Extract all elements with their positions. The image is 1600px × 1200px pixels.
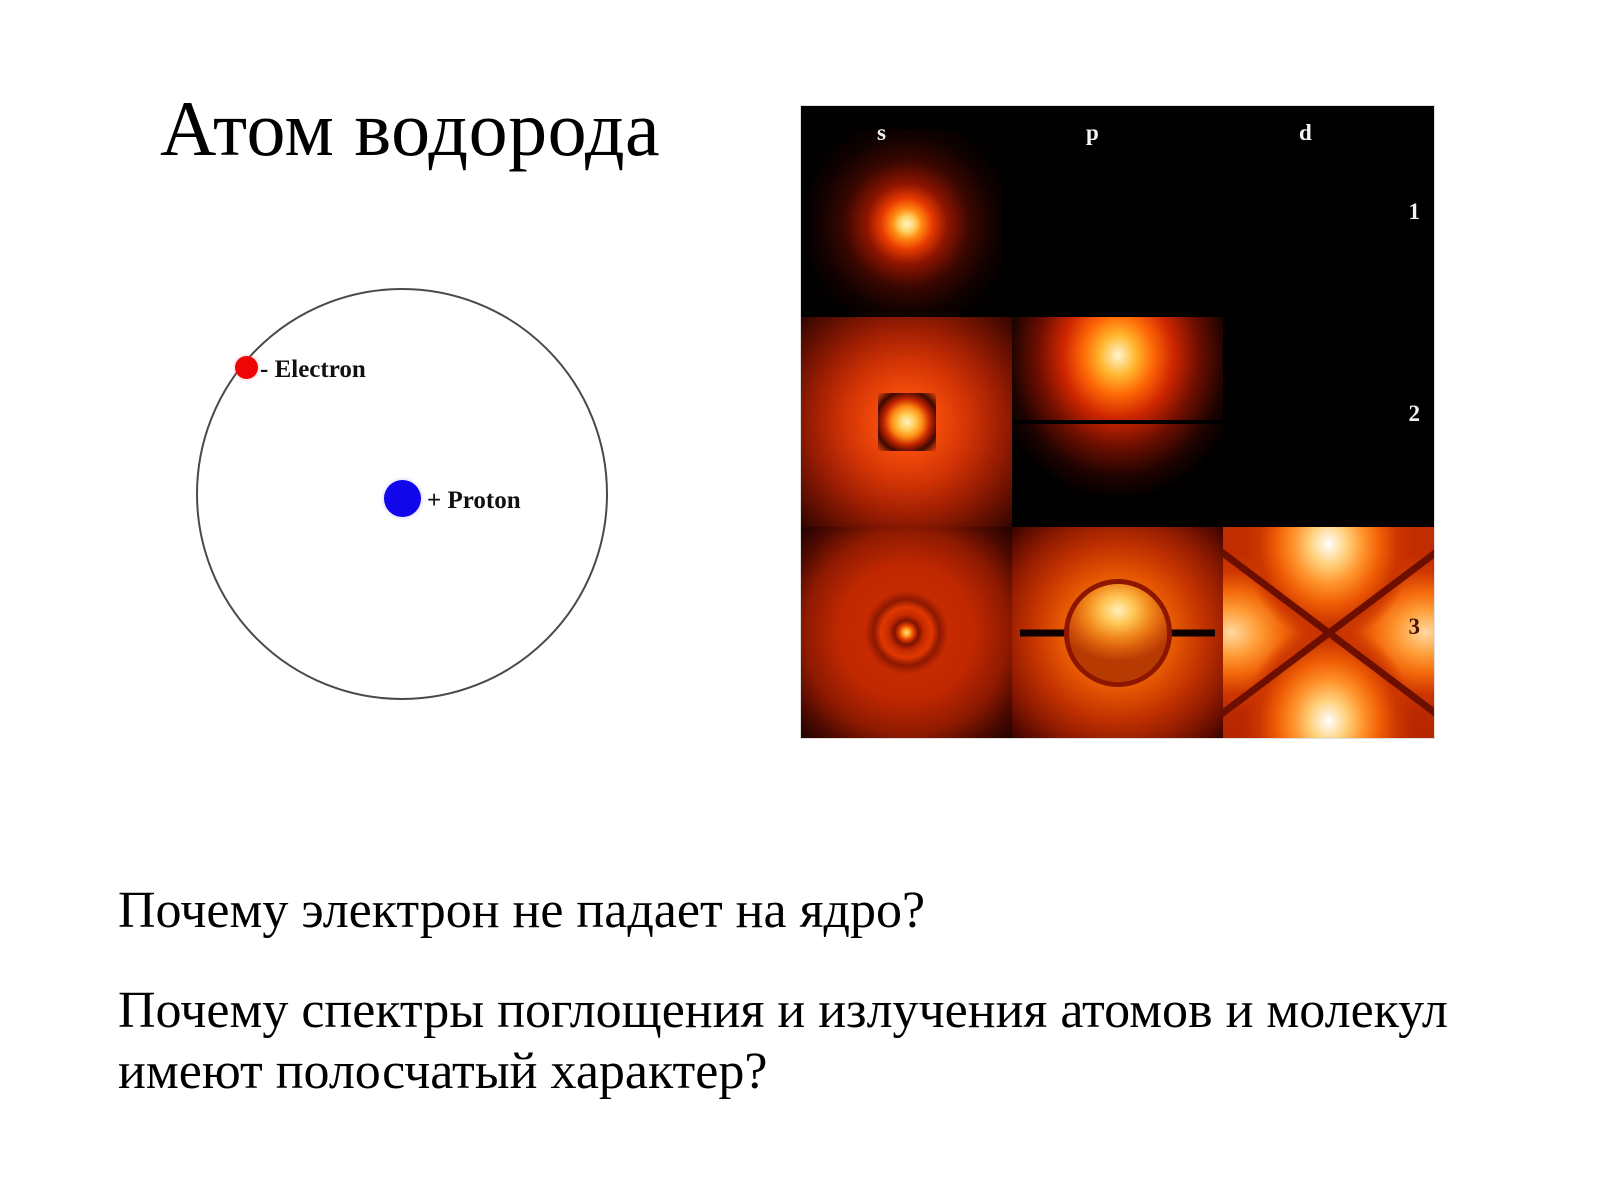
electron-label: - Electron [260, 356, 366, 384]
orbital-cell-3d [1223, 527, 1434, 738]
electron-dot-icon [235, 356, 258, 379]
question-text-first: Почему электрон не падает на ядро? [118, 880, 925, 941]
orbital-row-label-3: 3 [1409, 614, 1421, 640]
orbital-cell-1d-empty [1223, 106, 1434, 317]
orbital-cell-2d-empty [1223, 317, 1434, 528]
proton-label: + Proton [427, 487, 521, 515]
orbital-cell-1s [801, 106, 1012, 317]
orbital-cell-2p [1012, 317, 1223, 528]
question-text-second: Почему спектры поглощения и излучения ат… [118, 980, 1498, 1103]
orbital-2p-nodal-plane [1012, 420, 1223, 424]
orbital-row-label-2: 2 [1409, 401, 1421, 427]
orbital-3p-core [1069, 584, 1167, 682]
orbital-3s-cloud [801, 527, 1012, 738]
orbital-cell-3p [1012, 527, 1223, 738]
orbital-column-header-s: s [877, 120, 886, 146]
proton-dot-icon [384, 480, 421, 517]
orbital-cell-3s [801, 527, 1012, 738]
orbital-column-header-p: p [1086, 120, 1099, 146]
orbital-1s-cloud [812, 129, 1002, 317]
orbital-row-label-1: 1 [1409, 199, 1421, 225]
orbital-column-header-d: d [1299, 120, 1312, 146]
orbital-cell-1p-empty [1012, 106, 1223, 317]
orbital-density-figure: s p d 1 2 3 [801, 106, 1434, 738]
orbital-grid [801, 106, 1434, 738]
page-title: Атом водорода [160, 88, 660, 170]
orbital-2s-core [878, 393, 936, 451]
orbital-cell-2s [801, 317, 1012, 528]
bohr-atom-diagram: - Electron + Proton [196, 288, 608, 700]
